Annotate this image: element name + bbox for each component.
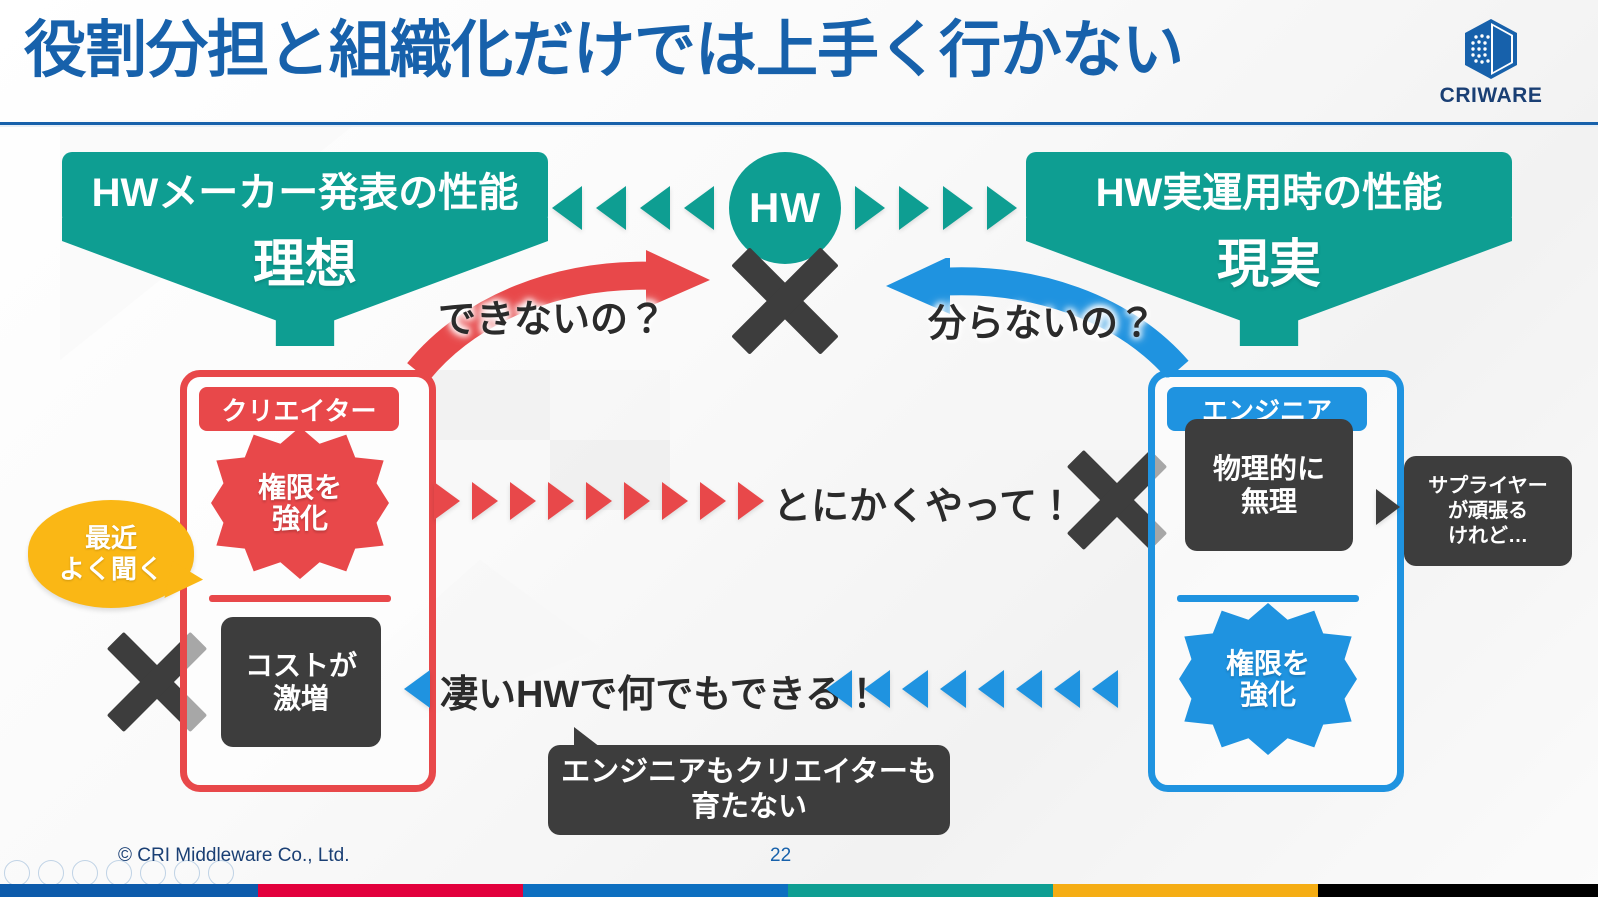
panel-creator-header: クリエイター: [199, 387, 399, 431]
colorbar-segment: [788, 884, 1053, 897]
growth-callout-text: エンジニアもクリエイターも育たない: [561, 755, 937, 825]
slide-canvas: 役割分担と組織化だけでは上手く行かない: [0, 0, 1598, 897]
hw-hub-label: HW: [749, 184, 821, 232]
middle-bottom-caption: 凄いHWで何でもできる！: [440, 663, 881, 718]
teal-arrow-right-icon: [943, 186, 973, 230]
teal-arrow-left-icon: [596, 186, 626, 230]
blue-arrow-caption: 分らないの？: [928, 292, 1156, 347]
bubble-text: 最近よく聞く: [59, 523, 163, 584]
supplier-arrow-icon: [1376, 489, 1400, 525]
blue-arrow-left-icon: [1054, 670, 1080, 708]
red-arrow-right-icon: [662, 482, 688, 520]
engineer-impossible-box: 物理的に無理: [1185, 419, 1353, 551]
teal-arrow-right-icon: [855, 186, 885, 230]
criware-logo: CRIWARE: [1436, 18, 1546, 110]
red-arrow-right-icon: [586, 482, 612, 520]
supplier-text: サプライヤーが頑張るけれど…: [1428, 474, 1547, 549]
footer-page-number: 22: [770, 845, 791, 867]
red-arrow-right-icon: [548, 482, 574, 520]
blue-arrow-left-icon: [864, 670, 890, 708]
panel-creator-divider: [209, 595, 391, 602]
red-arrow-right-icon: [434, 482, 460, 520]
criware-logo-text: CRIWARE: [1436, 84, 1546, 108]
middle-top-caption: とにかくやって！: [773, 475, 1075, 530]
engineer-burst-text: 権限を強化: [1226, 648, 1310, 711]
blue-arrow-left-icon: [978, 670, 1004, 708]
banner-ideal-bar: HWメーカー発表の性能: [62, 152, 548, 226]
creator-burst-text: 権限を強化: [258, 472, 342, 535]
blue-arrow-left-icon: [940, 670, 966, 708]
engineer-authority-burst: 権限を強化: [1179, 603, 1357, 755]
page-title: 役割分担と組織化だけでは上手く行かない: [24, 20, 1183, 82]
engineer-impossible-text: 物理的に無理: [1213, 452, 1325, 518]
teal-arrow-left-icon: [640, 186, 670, 230]
background-shard: [430, 370, 550, 440]
background-shard: [550, 370, 670, 440]
red-arrow-caption: できないの？: [438, 288, 666, 343]
panel-engineer-divider: [1177, 595, 1359, 602]
growth-callout-box: エンジニアもクリエイターも育たない: [548, 745, 950, 835]
red-arrow-right-icon: [510, 482, 536, 520]
banner-reality-bar: HW実運用時の性能: [1026, 152, 1512, 226]
red-arrow-right-icon: [738, 482, 764, 520]
creator-authority-burst: 権限を強化: [211, 427, 389, 579]
colorbar-segment: [0, 884, 258, 897]
colorbar-segment: [523, 884, 788, 897]
blue-arrow-left-icon: [1016, 670, 1042, 708]
slide-header: 役割分担と組織化だけでは上手く行かない: [0, 0, 1598, 124]
banner-reality-label: HW実運用時の性能: [1096, 160, 1443, 218]
footer-color-bar: [0, 884, 1598, 897]
panel-engineer[interactable]: エンジニア 物理的に無理 権限を強化: [1148, 370, 1404, 792]
teal-arrow-left-icon: [552, 186, 582, 230]
red-arrow-right-icon: [700, 482, 726, 520]
header-divider-light: [0, 125, 1598, 127]
criware-hexagon-icon: [1462, 18, 1520, 80]
recent-hearsay-bubble: 最近よく聞く: [28, 500, 194, 608]
next-page-icon[interactable]: [38, 860, 64, 886]
pen-icon[interactable]: [72, 860, 98, 886]
red-arrow-right-icon: [624, 482, 650, 520]
supplier-box: サプライヤーが頑張るけれど…: [1404, 456, 1572, 566]
panel-creator-title: クリエイター: [222, 391, 377, 428]
prev-page-icon[interactable]: [4, 860, 30, 886]
blue-arrow-left-icon: [902, 670, 928, 708]
colorbar-segment: [258, 884, 523, 897]
panel-creator[interactable]: クリエイター 権限を強化 コストが激増: [180, 370, 436, 792]
teal-arrow-right-icon: [987, 186, 1017, 230]
blue-arrow-left-icon: [826, 670, 852, 708]
red-arrow-right-icon: [472, 482, 498, 520]
colorbar-segment: [1318, 884, 1598, 897]
teal-arrow-left-icon: [684, 186, 714, 230]
banner-ideal-label: HWメーカー発表の性能: [92, 160, 519, 218]
creator-cost-box: コストが激増: [221, 617, 381, 747]
creator-cost-text: コストが激増: [245, 649, 357, 715]
footer-copyright: © CRI Middleware Co., Ltd.: [118, 845, 350, 867]
teal-arrow-right-icon: [899, 186, 929, 230]
x-mark-icon: [726, 246, 844, 356]
blue-arrow-left-icon: [1092, 670, 1118, 708]
colorbar-segment: [1053, 884, 1318, 897]
blue-arrow-left-icon: [404, 670, 430, 708]
